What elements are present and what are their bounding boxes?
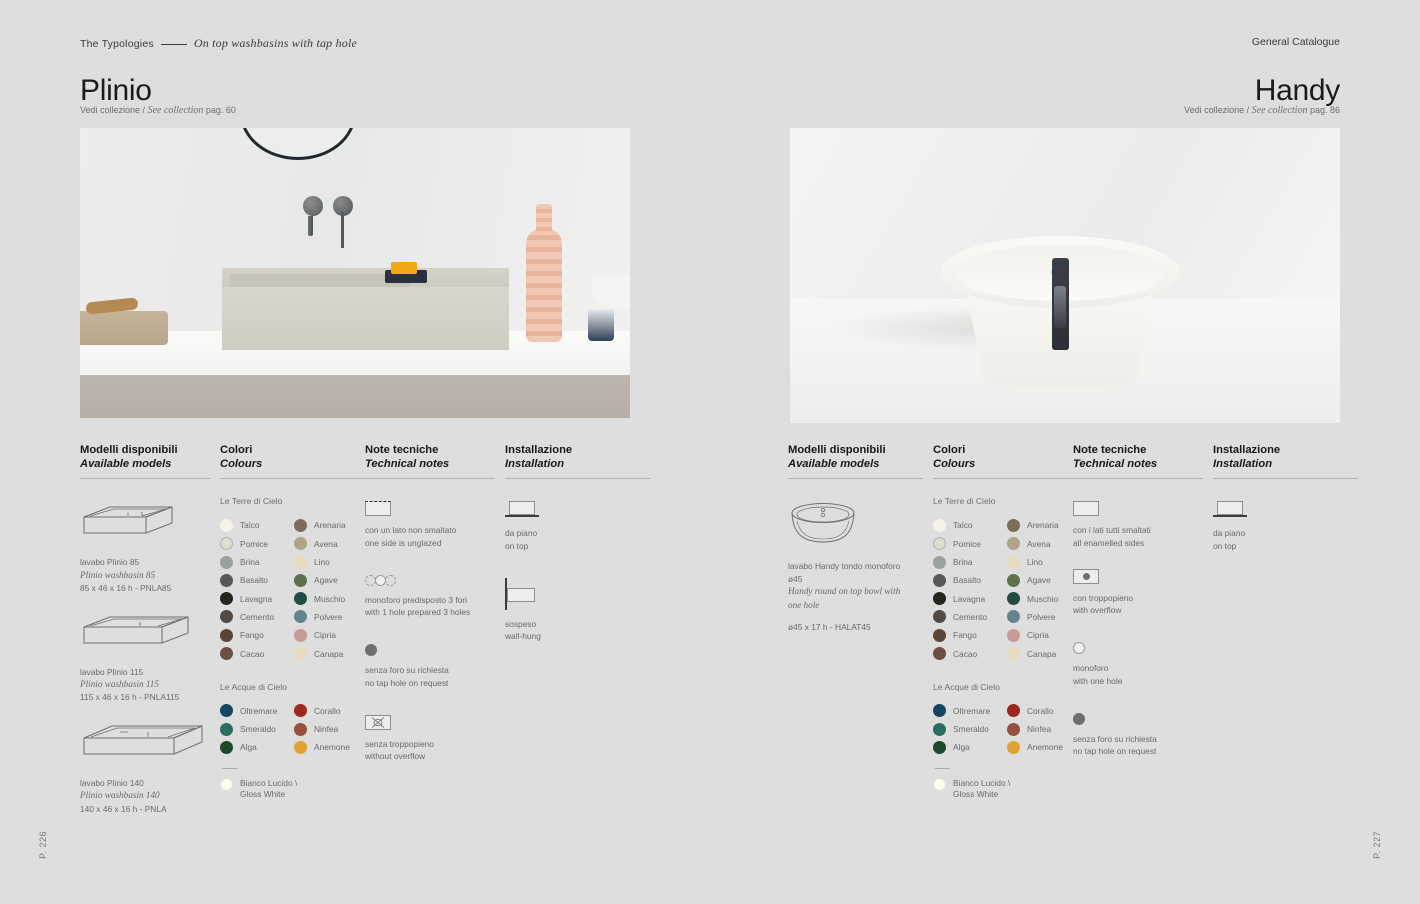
- colour-swatch: Cemento: [933, 608, 1001, 626]
- swatch-label: Fango: [953, 630, 977, 640]
- plinio-basin-prop: [222, 268, 509, 350]
- colour-swatch-grid-terre: TalcoArenariaPomiceAvenaBrinaLinoBasalto…: [933, 516, 1083, 662]
- divider: [935, 768, 950, 769]
- note-item: con troppopieno with overflow: [1073, 569, 1203, 617]
- page-title-right: Handy: [1255, 74, 1340, 108]
- swatch-label: Pomice: [240, 539, 268, 549]
- see-collection-en-right: See collection: [1252, 105, 1308, 116]
- handy-bowl-prop: [940, 236, 1180, 396]
- see-collection-it-left: Vedi collezione /: [80, 105, 145, 115]
- colour-swatch: Cipria: [294, 626, 362, 644]
- swatch-dot: [220, 592, 233, 605]
- note-text: monoforo with one hole: [1073, 662, 1203, 687]
- colour-swatch: Cacao: [220, 644, 288, 662]
- colour-swatch: Pomice: [220, 535, 288, 553]
- swatch-label: Oltremare: [240, 706, 277, 716]
- swatch-dot: [1007, 647, 1020, 660]
- colour-swatch: Pomice: [933, 535, 1001, 553]
- swatch-dot: [933, 629, 946, 642]
- page-title-left: Plinio: [80, 74, 152, 108]
- swatch-label: Bianco Lucido \ Gloss White: [240, 778, 297, 801]
- catalogue-spread: The Typologies On top washbasins with ta…: [0, 0, 1420, 904]
- swatch-dot: [933, 592, 946, 605]
- colour-swatch-gloss: Bianco Lucido \ Gloss White: [220, 778, 370, 801]
- colour-swatch: Talco: [220, 516, 288, 534]
- note-text: con troppopieno with overflow: [1073, 592, 1203, 617]
- colour-group-label-terre: Le Terre di Cielo: [220, 496, 370, 506]
- installation-text: da piano on top: [1213, 527, 1358, 552]
- colour-swatch: Lino: [294, 553, 362, 571]
- swatch-label: Lino: [314, 557, 330, 567]
- swatch-label: Agave: [314, 575, 338, 585]
- divider: [1213, 478, 1358, 479]
- swatch-dot: [220, 537, 233, 550]
- installation-text: sospeso wall-hung: [505, 618, 650, 643]
- swatch-dot: [1007, 629, 1020, 642]
- swatch-dot: [1007, 723, 1020, 736]
- page-folio-left: P. 226: [38, 831, 48, 859]
- swatch-dot: [1007, 592, 1020, 605]
- swatch-label: Canapa: [314, 649, 343, 659]
- note-item: con i lati tutti smaltati all enamelled …: [1073, 501, 1203, 549]
- swatch-dot: [294, 629, 307, 642]
- colour-swatch: Ninfea: [294, 720, 362, 738]
- swatch-label: Anemone: [314, 742, 350, 752]
- col-colours-right: Colori Colours Le Terre di Cielo TalcoAr…: [933, 444, 1083, 801]
- on-top-icon: [505, 501, 539, 519]
- colour-swatch: Cacao: [933, 644, 1001, 662]
- swatch-dot: [933, 741, 946, 754]
- swatch-label: Muschio: [314, 594, 345, 604]
- swatch-label: Brina: [240, 557, 260, 567]
- col-header-notes-right: Note tecniche Technical notes: [1073, 444, 1203, 471]
- colour-swatch: Canapa: [1007, 644, 1075, 662]
- model-item: lavabo Plinio 85 Plinio washbasin 85 85 …: [80, 503, 210, 594]
- note-item: senza troppopieno without overflow: [365, 715, 495, 763]
- swatch-dot: [294, 592, 307, 605]
- colour-swatch: Avena: [294, 535, 362, 553]
- model-caption: lavabo Plinio 85 Plinio washbasin 85 85 …: [80, 556, 210, 594]
- swatch-dot: [933, 778, 946, 791]
- colour-swatch: Muschio: [294, 590, 362, 608]
- colour-swatch: Anemone: [294, 738, 362, 756]
- swatch-label: Cemento: [953, 612, 987, 622]
- model-caption: lavabo Handy tondo monoforo ø45 Handy ro…: [788, 560, 923, 633]
- note-text: senza troppopieno without overflow: [365, 738, 495, 763]
- swatch-dot: [933, 704, 946, 717]
- swatch-label: Pomice: [953, 539, 981, 549]
- swatch-dot: [220, 723, 233, 736]
- colour-swatch: Basalto: [220, 571, 288, 589]
- swatch-label: Ninfea: [1027, 724, 1051, 734]
- see-collection-right: Vedi collezione / See collection pag. 86: [1184, 105, 1340, 116]
- swatch-dot: [294, 519, 307, 532]
- colour-swatch: Alga: [933, 738, 1001, 756]
- three-holes-icon: [365, 575, 495, 586]
- colour-swatch-grid-acque: OltremareCoralloSmeraldoNinfeaAlgaAnemon…: [933, 702, 1083, 757]
- swatch-label: Cacao: [953, 649, 977, 659]
- swatch-dot: [294, 723, 307, 736]
- divider: [222, 768, 237, 769]
- colour-swatch: Lavagna: [933, 590, 1001, 608]
- note-text: con un lato non smaltato one side is ung…: [365, 524, 495, 549]
- colour-swatch: Oltremare: [933, 702, 1001, 720]
- rect-basin-icon: [80, 722, 206, 764]
- note-item: senza foro su richiesta no tap hole on r…: [1073, 713, 1203, 758]
- installation-item: sospeso wall-hung: [505, 578, 650, 643]
- wall-hung-icon: [505, 578, 539, 610]
- col-colours-left: Colori Colours Le Terre di Cielo TalcoAr…: [220, 444, 370, 801]
- swatch-label: Cacao: [240, 649, 264, 659]
- swatch-label: Oltremare: [953, 706, 990, 716]
- swatch-label: Lavagna: [240, 594, 272, 604]
- swatch-label: Cipria: [314, 630, 336, 640]
- swatch-dot: [294, 704, 307, 717]
- note-item: senza foro su richiesta no tap hole on r…: [365, 644, 495, 689]
- swatch-label: Smeraldo: [240, 724, 276, 734]
- swatch-dot: [220, 778, 233, 791]
- rect-basin-icon: [80, 503, 176, 543]
- colour-swatch: Cemento: [220, 608, 288, 626]
- round-bowl-icon: [788, 501, 858, 547]
- divider: [505, 478, 650, 479]
- swatch-label: Lavagna: [953, 594, 985, 604]
- colour-swatch: Smeraldo: [933, 720, 1001, 738]
- note-text: senza foro su richiesta no tap hole on r…: [1073, 733, 1203, 758]
- swatch-dot: [933, 574, 946, 587]
- note-item: monoforo predisposto 3 fori with 1 hole …: [365, 575, 495, 619]
- colour-swatch: Oltremare: [220, 702, 288, 720]
- col-header-colours-right: Colori Colours: [933, 444, 1083, 471]
- colour-swatch: Basalto: [933, 571, 1001, 589]
- colour-swatch: Ninfea: [1007, 720, 1075, 738]
- col-installation-right: Installazione Installation da piano on t…: [1213, 444, 1358, 572]
- swatch-dot: [1007, 556, 1020, 569]
- colour-group-label-acque: Le Acque di Cielo: [220, 682, 370, 692]
- colour-swatch: Polvere: [1007, 608, 1075, 626]
- swatch-label: Alga: [240, 742, 257, 752]
- colour-swatch: Arenaria: [294, 516, 362, 534]
- colour-swatch: Lavagna: [220, 590, 288, 608]
- swatch-label: Muschio: [1027, 594, 1058, 604]
- swatch-dot: [294, 610, 307, 623]
- hero-photo-handy: [790, 128, 1340, 423]
- rect-with-dot-icon: [1073, 569, 1099, 584]
- colour-swatch: Cipria: [1007, 626, 1075, 644]
- swatch-dot: [933, 647, 946, 660]
- swatch-label: Talco: [240, 520, 260, 530]
- colour-swatch: Corallo: [294, 702, 362, 720]
- col-header-models-right: Modelli disponibili Available models: [788, 444, 923, 471]
- colour-group-label-acque: Le Acque di Cielo: [933, 682, 1083, 692]
- swatch-dot: [220, 741, 233, 754]
- note-text: con i lati tutti smaltati all enamelled …: [1073, 524, 1203, 549]
- swatch-dot: [220, 556, 233, 569]
- colour-swatch: Canapa: [294, 644, 362, 662]
- swatch-label: Polvere: [314, 612, 342, 622]
- colour-swatch: Agave: [1007, 571, 1075, 589]
- col-header-models-left: Modelli disponibili Available models: [80, 444, 210, 471]
- col-notes-left: Note tecniche Technical notes con un lat…: [365, 444, 495, 782]
- filled-dot-icon: [365, 644, 377, 656]
- tap-prop: [1052, 258, 1069, 350]
- colour-swatch: Fango: [933, 626, 1001, 644]
- swatch-dot: [294, 574, 307, 587]
- swatch-label: Cemento: [240, 612, 274, 622]
- swatch-label: Agave: [1027, 575, 1051, 585]
- colour-swatch: Agave: [294, 571, 362, 589]
- col-installation-left: Installazione Installation da piano on t…: [505, 444, 650, 662]
- page-folio-right: P. 227: [1372, 831, 1382, 859]
- no-overflow-icon: [365, 715, 391, 730]
- swatch-dot: [220, 574, 233, 587]
- swatch-label: Canapa: [1027, 649, 1056, 659]
- swatch-dot: [220, 629, 233, 642]
- on-top-icon: [1213, 501, 1247, 519]
- colour-swatch: Arenaria: [1007, 516, 1075, 534]
- colour-swatch-gloss: Bianco Lucido \ Gloss White: [933, 778, 1083, 801]
- colour-swatch: Avena: [1007, 535, 1075, 553]
- installation-text: da piano on top: [505, 527, 650, 552]
- swatch-dot: [294, 741, 307, 754]
- colour-swatch: Anemone: [1007, 738, 1075, 756]
- colour-swatch: Corallo: [1007, 702, 1075, 720]
- swatch-label: Alga: [953, 742, 970, 752]
- divider: [788, 478, 923, 479]
- page-ref-right: pag. 86: [1310, 105, 1340, 115]
- col-header-installation-left: Installazione Installation: [505, 444, 650, 471]
- swatch-dot: [220, 704, 233, 717]
- swatch-label: Basalto: [953, 575, 981, 585]
- swatch-label: Ninfea: [314, 724, 338, 734]
- note-text: senza foro su richiesta no tap hole on r…: [365, 664, 495, 689]
- colour-swatch: Lino: [1007, 553, 1075, 571]
- wall-tap-icon: [303, 196, 323, 216]
- colour-swatch: Fango: [220, 626, 288, 644]
- see-collection-it-right: Vedi collezione /: [1184, 105, 1249, 115]
- col-header-colours-left: Colori Colours: [220, 444, 370, 471]
- swatch-label: Basalto: [240, 575, 268, 585]
- vase-prop: [526, 228, 562, 342]
- left-page: Plinio Vedi collezione / See collection …: [0, 0, 710, 904]
- open-circle-icon: [1073, 642, 1085, 654]
- note-item: con un lato non smaltato one side is ung…: [365, 501, 495, 549]
- model-caption: lavabo Plinio 115 Plinio washbasin 115 1…: [80, 666, 210, 704]
- swatch-label: Cipria: [1027, 630, 1049, 640]
- swatch-dot: [294, 647, 307, 660]
- swatch-dot: [1007, 537, 1020, 550]
- swatch-dot: [1007, 610, 1020, 623]
- colour-swatch: Brina: [933, 553, 1001, 571]
- col-header-notes-left: Note tecniche Technical notes: [365, 444, 495, 471]
- swatch-dot: [220, 519, 233, 532]
- swatch-label: Avena: [1027, 539, 1051, 549]
- model-item: lavabo Plinio 140 Plinio washbasin 140 1…: [80, 722, 210, 815]
- divider: [80, 478, 210, 479]
- note-item: monoforo with one hole: [1073, 642, 1203, 687]
- swatch-label: Arenaria: [314, 520, 346, 530]
- page-ref-left: pag. 60: [206, 105, 236, 115]
- swatch-dot: [933, 723, 946, 736]
- colour-swatch: Alga: [220, 738, 288, 756]
- colour-swatch: Brina: [220, 553, 288, 571]
- swatch-dot: [220, 610, 233, 623]
- col-header-installation-right: Installazione Installation: [1213, 444, 1358, 471]
- swatch-dot: [933, 610, 946, 623]
- colour-group-label-terre: Le Terre di Cielo: [933, 496, 1083, 506]
- colour-swatch-grid-terre: TalcoArenariaPomiceAvenaBrinaLinoBasalto…: [220, 516, 370, 662]
- rect-plain-icon: [1073, 501, 1099, 516]
- swatch-dot: [1007, 574, 1020, 587]
- rect-basin-icon: [80, 613, 192, 653]
- swatch-label: Corallo: [314, 706, 341, 716]
- colour-swatch: Polvere: [294, 608, 362, 626]
- swatch-dot: [220, 647, 233, 660]
- colour-swatch: Smeraldo: [220, 720, 288, 738]
- see-collection-en-left: See collection: [148, 105, 204, 116]
- installation-item: da piano on top: [505, 501, 650, 552]
- swatch-dot: [933, 537, 946, 550]
- note-text: monoforo predisposto 3 fori with 1 hole …: [365, 594, 495, 619]
- swatch-dot: [933, 519, 946, 532]
- swatch-label: Fango: [240, 630, 264, 640]
- swatch-label: Brina: [953, 557, 973, 567]
- filled-dot-icon: [1073, 713, 1085, 725]
- model-item: lavabo Plinio 115 Plinio washbasin 115 1…: [80, 613, 210, 704]
- see-collection-left: Vedi collezione / See collection pag. 60: [80, 105, 236, 116]
- colour-swatch-grid-acque: OltremareCoralloSmeraldoNinfeaAlgaAnemon…: [220, 702, 370, 757]
- divider: [933, 478, 1083, 479]
- col-models-right: Modelli disponibili Available models la: [788, 444, 923, 633]
- colour-swatch: Talco: [933, 516, 1001, 534]
- swatch-dot: [1007, 741, 1020, 754]
- installation-item: da piano on top: [1213, 501, 1358, 552]
- divider: [365, 478, 495, 479]
- swatch-dot: [1007, 519, 1020, 532]
- right-page: Handy Vedi collezione / See collection p…: [710, 0, 1420, 904]
- model-caption: lavabo Plinio 140 Plinio washbasin 140 1…: [80, 777, 210, 815]
- model-item: lavabo Handy tondo monoforo ø45 Handy ro…: [788, 501, 923, 633]
- swatch-dot: [1007, 704, 1020, 717]
- hero-photo-plinio: [80, 128, 630, 418]
- swatch-dot: [933, 556, 946, 569]
- swatch-label: Avena: [314, 539, 338, 549]
- rect-dashed-edge-icon: [365, 501, 391, 516]
- swatch-label: Anemone: [1027, 742, 1063, 752]
- col-notes-right: Note tecniche Technical notes con i lati…: [1073, 444, 1203, 777]
- swatch-label: Lino: [1027, 557, 1043, 567]
- colour-swatch: Muschio: [1007, 590, 1075, 608]
- swatch-dot: [294, 556, 307, 569]
- col-models-left: Modelli disponibili Available models la: [80, 444, 210, 815]
- divider: [220, 478, 370, 479]
- swatch-label: Talco: [953, 520, 973, 530]
- swatch-label: Smeraldo: [953, 724, 989, 734]
- swatch-label: Arenaria: [1027, 520, 1059, 530]
- swatch-dot: [294, 537, 307, 550]
- swatch-label: Polvere: [1027, 612, 1055, 622]
- swatch-label: Corallo: [1027, 706, 1054, 716]
- swatch-label: Bianco Lucido \ Gloss White: [953, 778, 1010, 801]
- divider: [1073, 478, 1203, 479]
